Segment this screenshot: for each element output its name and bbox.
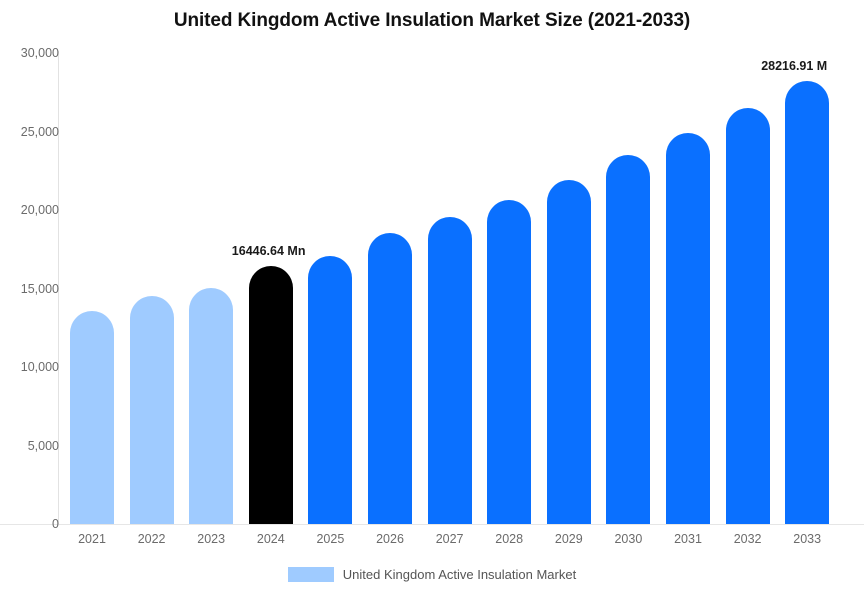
bar-2026[interactable]	[368, 233, 412, 524]
x-axis-tick-2033: 2033	[777, 532, 837, 546]
bar-2024[interactable]	[249, 266, 293, 524]
x-axis-tick-2032: 2032	[718, 532, 778, 546]
bar-value-label-2024: 16446.64 Mn	[232, 244, 306, 258]
x-axis-tick-2027: 2027	[420, 532, 480, 546]
x-axis-tick-2022: 2022	[122, 532, 182, 546]
bar-value-label-2033: 28216.91 M	[761, 59, 827, 73]
bar-2028[interactable]	[487, 200, 531, 524]
bar-2025[interactable]	[308, 256, 352, 524]
bar-2033[interactable]	[785, 81, 829, 524]
bar-2030[interactable]	[606, 155, 650, 524]
x-axis-tick-2021: 2021	[62, 532, 122, 546]
bar-2027[interactable]	[428, 217, 472, 524]
chart-container: United Kingdom Active Insulation Market …	[0, 0, 864, 600]
bar-2031[interactable]	[666, 133, 710, 524]
bar-2022[interactable]	[130, 296, 174, 524]
legend-label: United Kingdom Active Insulation Market	[343, 567, 576, 582]
legend-swatch	[288, 567, 334, 582]
bar-2023[interactable]	[189, 288, 233, 524]
chart-legend: United Kingdom Active Insulation Market	[0, 567, 864, 582]
x-axis-tick-2023: 2023	[181, 532, 241, 546]
bar-2029[interactable]	[547, 180, 591, 524]
bar-2021[interactable]	[70, 311, 114, 524]
bar-2032[interactable]	[726, 108, 770, 524]
x-axis-tick-2030: 2030	[598, 532, 658, 546]
x-axis-tick-2025: 2025	[300, 532, 360, 546]
x-axis-tick-2024: 2024	[241, 532, 301, 546]
x-axis-tick-2031: 2031	[658, 532, 718, 546]
x-axis-tick-2028: 2028	[479, 532, 539, 546]
x-axis-tick-2029: 2029	[539, 532, 599, 546]
bar-series-layer: 202120222023202416446.64 Mn2025202620272…	[0, 0, 864, 600]
x-axis-tick-2026: 2026	[360, 532, 420, 546]
